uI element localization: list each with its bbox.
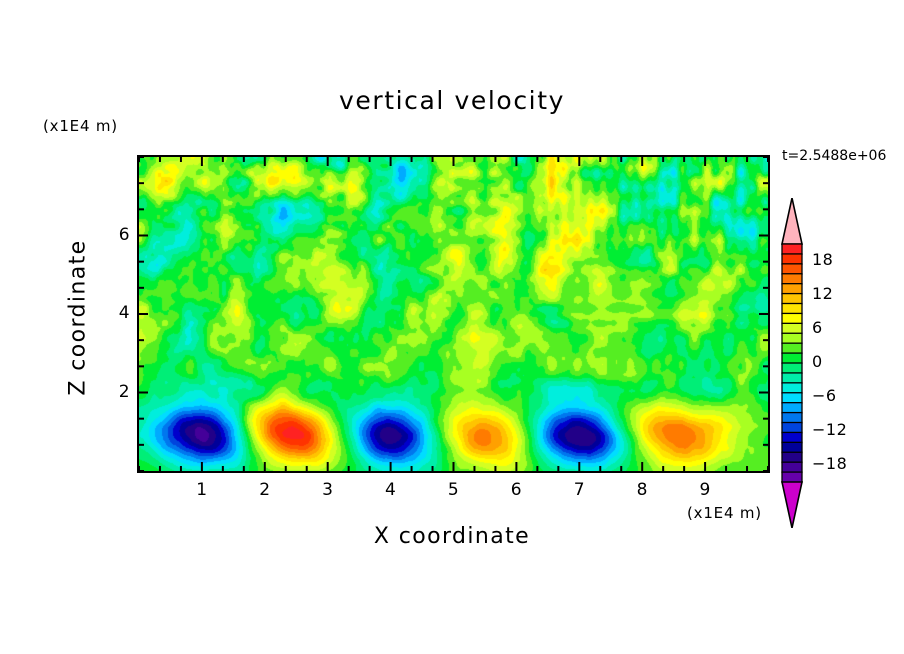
x-tick-label: 4 [376,480,406,500]
x-axis-title: X coordinate [0,524,904,549]
colorbar-band[interactable] [782,472,802,482]
y-tick-label: 6 [100,225,130,245]
colorbar-tick-label: 6 [812,318,823,337]
y-axis-units-label: (x1E4 m) [43,117,118,135]
velocity-field-canvas [139,157,768,471]
y-axis-title: Z coordinate [66,218,91,418]
colorbar-tick-label: −12 [812,420,847,439]
x-tick-label: 9 [690,480,720,500]
page-title: vertical velocity [0,86,904,115]
colorbar-band[interactable] [782,294,802,304]
colorbar-band[interactable] [782,343,802,353]
colorbar-band[interactable] [782,442,802,452]
x-tick-label: 6 [501,480,531,500]
colorbar-band[interactable] [782,452,802,462]
colorbar-tick-label: 0 [812,352,823,371]
colorbar-over-arrow[interactable] [782,198,802,244]
colorbar-tick-label: −6 [812,386,837,405]
colorbar-band[interactable] [782,353,802,363]
colorbar-tick-label: 18 [812,250,833,269]
colorbar-band[interactable] [782,363,802,373]
colorbar-band[interactable] [782,373,802,383]
figure-root: vertical velocity (x1E4 m) t=2.5488e+06 … [0,0,904,654]
x-tick-label: 2 [250,480,280,500]
colorbar-band[interactable] [782,274,802,284]
time-annotation: t=2.5488e+06 [782,148,886,164]
colorbar-tick-label: −18 [812,454,847,473]
colorbar-band[interactable] [782,333,802,343]
colorbar-band[interactable] [782,284,802,294]
colorbar-tick-label: 12 [812,284,833,303]
y-tick-label: 2 [100,382,130,402]
colorbar-band[interactable] [782,383,802,393]
colorbar-band[interactable] [782,413,802,423]
x-tick-label: 7 [564,480,594,500]
colorbar-band[interactable] [782,323,802,333]
colorbar-band[interactable] [782,403,802,413]
colorbar-band[interactable] [782,244,802,254]
colorbar-band[interactable] [782,254,802,264]
colorbar-band[interactable] [782,462,802,472]
y-tick-label: 4 [100,303,130,323]
colorbar-under-arrow[interactable] [782,482,802,528]
x-tick-label: 8 [627,480,657,500]
x-axis-units-label: (x1E4 m) [687,504,762,522]
colorbar-band[interactable] [782,304,802,314]
colorbar-band[interactable] [782,393,802,403]
x-tick-label: 3 [313,480,343,500]
contour-plot-area[interactable] [137,155,770,473]
colorbar-band[interactable] [782,264,802,274]
colorbar-band[interactable] [782,432,802,442]
x-tick-label: 5 [439,480,469,500]
colorbar-band[interactable] [782,423,802,433]
x-tick-label: 1 [187,480,217,500]
colorbar-band[interactable] [782,313,802,323]
